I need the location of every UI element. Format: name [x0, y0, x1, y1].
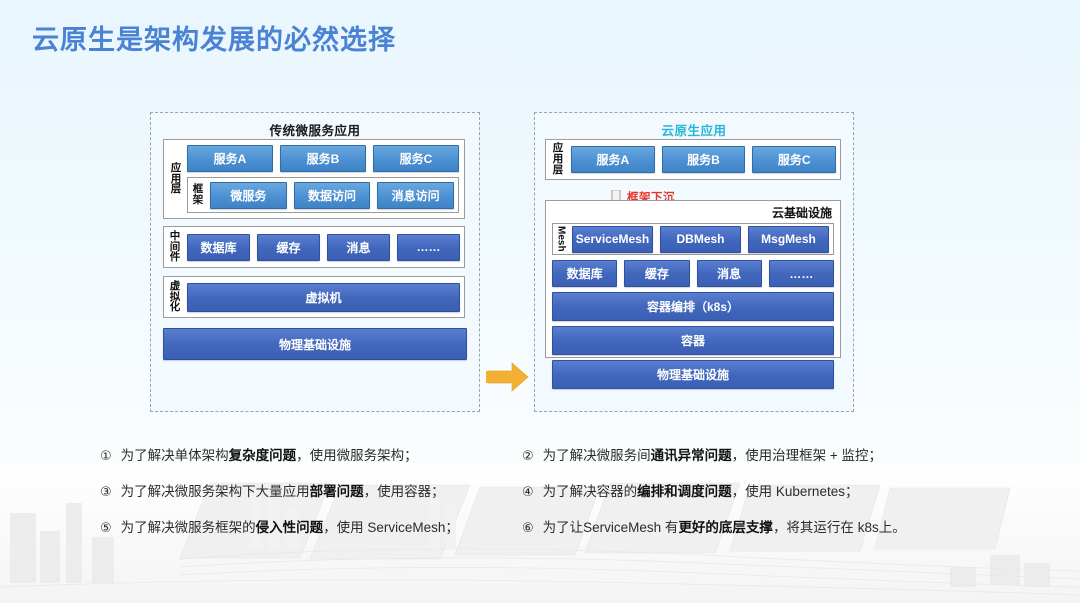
cloud-native-panel: 云原生应用 应用层 服务A 服务B 服务C 框架下沉 云基础设施 Mesh [534, 112, 854, 412]
list-item: ⑤ 为了解决微服务框架的侵入性问题，使用 ServiceMesh； [100, 520, 520, 536]
left-service-c[interactable]: 服务C [373, 145, 459, 172]
left-app-layer-label: 应用层 [167, 163, 185, 195]
bullet-column-left: ① 为了解决单体架构复杂度问题，使用微服务架构； ③ 为了解决微服务架构下大量应… [100, 448, 520, 557]
left-middleware-database[interactable]: 数据库 [187, 234, 250, 261]
left-middleware-message[interactable]: 消息 [327, 234, 390, 261]
bullet-number: ④ [522, 484, 534, 500]
left-middleware-cache[interactable]: 缓存 [257, 234, 320, 261]
left-virtualization-group: 虚拟化 虚拟机 [163, 276, 465, 318]
bullet-number: ⑤ [100, 520, 112, 536]
bullet-text: 为了解决单体架构复杂度问题，使用微服务架构； [121, 448, 418, 464]
msg-mesh[interactable]: MsgMesh [748, 226, 829, 253]
left-service-b[interactable]: 服务B [280, 145, 366, 172]
bullet-number: ② [522, 448, 534, 464]
traditional-microservice-panel: 传统微服务应用 应用层 服务A 服务B 服务C 框架 微服务 数据访问 消息访问 [150, 112, 480, 412]
list-item: ① 为了解决单体架构复杂度问题，使用微服务架构； [100, 448, 520, 464]
right-app-layer-label: 应用层 [549, 143, 567, 175]
bullet-text: 为了解决微服务架构下大量应用部署问题，使用容器； [121, 484, 445, 500]
bullet-column-right: ② 为了解决微服务间通讯异常问题，使用治理框架 + 监控； ④ 为了解决容器的编… [522, 448, 962, 557]
right-service-a[interactable]: 服务A [571, 146, 655, 173]
right-middleware-database[interactable]: 数据库 [552, 260, 617, 287]
right-panel-title: 云原生应用 [535, 120, 853, 139]
bullet-text: 为了解决微服务间通讯异常问题，使用治理框架 + 监控； [543, 448, 882, 464]
left-middleware-group: 中间件 数据库 缓存 消息 …… [163, 226, 465, 268]
list-item: ⑥ 为了让ServiceMesh 有更好的底层支撑，将其运行在 k8s上。 [522, 520, 962, 536]
page-title: 云原生是架构发展的必然选择 [32, 18, 396, 57]
left-physical-infrastructure[interactable]: 物理基础设施 [163, 328, 467, 360]
right-middleware-more[interactable]: …… [769, 260, 834, 287]
left-framework-label: 框架 [190, 184, 206, 205]
container-bar[interactable]: 容器 [552, 326, 834, 355]
left-middleware-more[interactable]: …… [397, 234, 460, 261]
left-panel-title: 传统微服务应用 [151, 120, 479, 139]
right-middleware-row: 数据库 缓存 消息 …… [552, 260, 834, 287]
right-arrow-icon [486, 360, 530, 394]
left-framework-microservice[interactable]: 微服务 [210, 182, 287, 209]
list-item: ④ 为了解决容器的编排和调度问题，使用 Kubernetes； [522, 484, 962, 500]
right-physical-infrastructure[interactable]: 物理基础设施 [552, 360, 834, 389]
mesh-group: Mesh ServiceMesh DBMesh MsgMesh [552, 223, 834, 255]
db-mesh[interactable]: DBMesh [660, 226, 741, 253]
right-service-b[interactable]: 服务B [662, 146, 746, 173]
right-middleware-message[interactable]: 消息 [697, 260, 762, 287]
mesh-label: Mesh [553, 224, 568, 254]
left-virtualization-label: 虚拟化 [167, 281, 183, 313]
bullet-number: ① [100, 448, 112, 464]
left-framework-message-access[interactable]: 消息访问 [377, 182, 454, 209]
service-mesh[interactable]: ServiceMesh [572, 226, 653, 253]
cloud-infrastructure-group: 云基础设施 Mesh ServiceMesh DBMesh MsgMesh 数据… [545, 200, 841, 358]
bullet-number: ③ [100, 484, 112, 500]
left-service-a[interactable]: 服务A [187, 145, 273, 172]
list-item: ③ 为了解决微服务架构下大量应用部署问题，使用容器； [100, 484, 520, 500]
bullet-text: 为了解决容器的编排和调度问题，使用 Kubernetes； [543, 484, 859, 500]
container-orchestration-bar[interactable]: 容器编排（k8s） [552, 292, 834, 321]
left-framework-group: 框架 微服务 数据访问 消息访问 [187, 177, 459, 213]
cloud-infra-title: 云基础设施 [546, 201, 840, 221]
left-middleware-label: 中间件 [167, 231, 183, 263]
right-service-c[interactable]: 服务C [752, 146, 836, 173]
left-framework-data-access[interactable]: 数据访问 [294, 182, 371, 209]
architecture-diagram: 传统微服务应用 应用层 服务A 服务B 服务C 框架 微服务 数据访问 消息访问 [0, 108, 1080, 418]
bullet-text: 为了让ServiceMesh 有更好的底层支撑，将其运行在 k8s上。 [543, 520, 906, 536]
left-virtual-machine[interactable]: 虚拟机 [187, 283, 460, 312]
right-middleware-cache[interactable]: 缓存 [624, 260, 689, 287]
bullet-text: 为了解决微服务框架的侵入性问题，使用 ServiceMesh； [121, 520, 459, 536]
right-app-layer-group: 应用层 服务A 服务B 服务C [545, 139, 841, 180]
list-item: ② 为了解决微服务间通讯异常问题，使用治理框架 + 监控； [522, 448, 962, 464]
left-app-layer-group: 应用层 服务A 服务B 服务C 框架 微服务 数据访问 消息访问 [163, 139, 465, 219]
bullet-number: ⑥ [522, 520, 534, 536]
